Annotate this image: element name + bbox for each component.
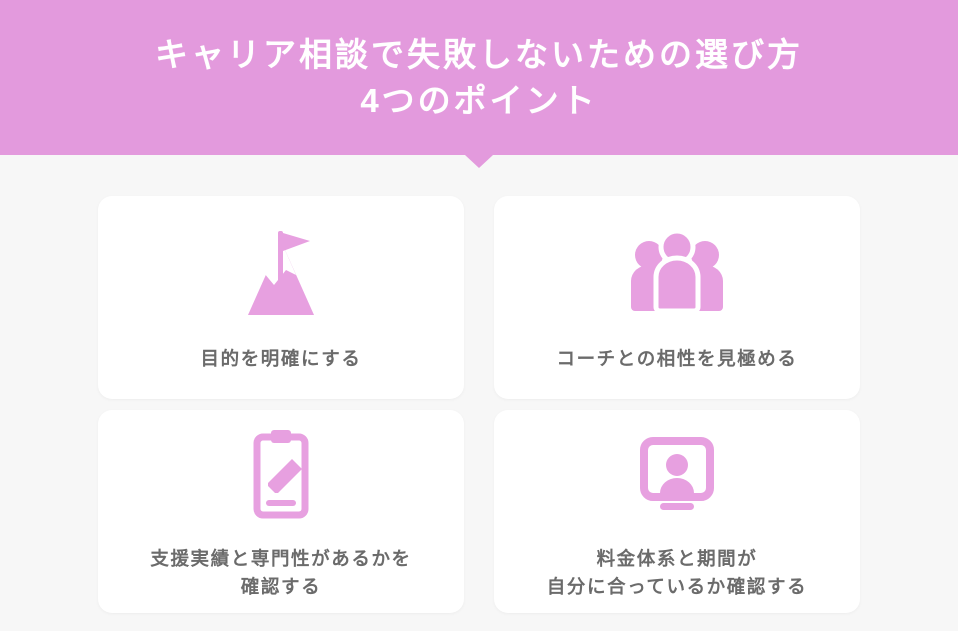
- point-card-1: 目的を明確にする: [98, 196, 464, 399]
- points-grid: 目的を明確にする コーチとの相性を見極める: [98, 196, 860, 613]
- point-card-2: コーチとの相性を見極める: [494, 196, 860, 399]
- point-card-label: 支援実績と専門性があるかを 確認する: [150, 545, 411, 601]
- mountain-flag-icon: [226, 223, 336, 327]
- clipboard-pencil-icon: [226, 423, 336, 527]
- person-monitor-icon: [622, 423, 732, 527]
- point-card-label: コーチとの相性を見極める: [556, 345, 797, 373]
- header-arrow-pointer: [465, 155, 493, 168]
- point-card-3: 支援実績と専門性があるかを 確認する: [98, 410, 464, 613]
- point-card-label: 目的を明確にする: [201, 345, 362, 373]
- header-banner: キャリア相談で失敗しないための選び方 4つのポイント: [0, 0, 958, 155]
- people-group-icon: [622, 223, 732, 327]
- page-title: キャリア相談で失敗しないための選び方 4つのポイント: [155, 32, 803, 123]
- point-card-4: 料金体系と期間が 自分に合っているか確認する: [494, 410, 860, 613]
- point-card-label: 料金体系と期間が 自分に合っているか確認する: [547, 545, 807, 601]
- infographic-page: キャリア相談で失敗しないための選び方 4つのポイント 目的を明確にする: [0, 0, 958, 631]
